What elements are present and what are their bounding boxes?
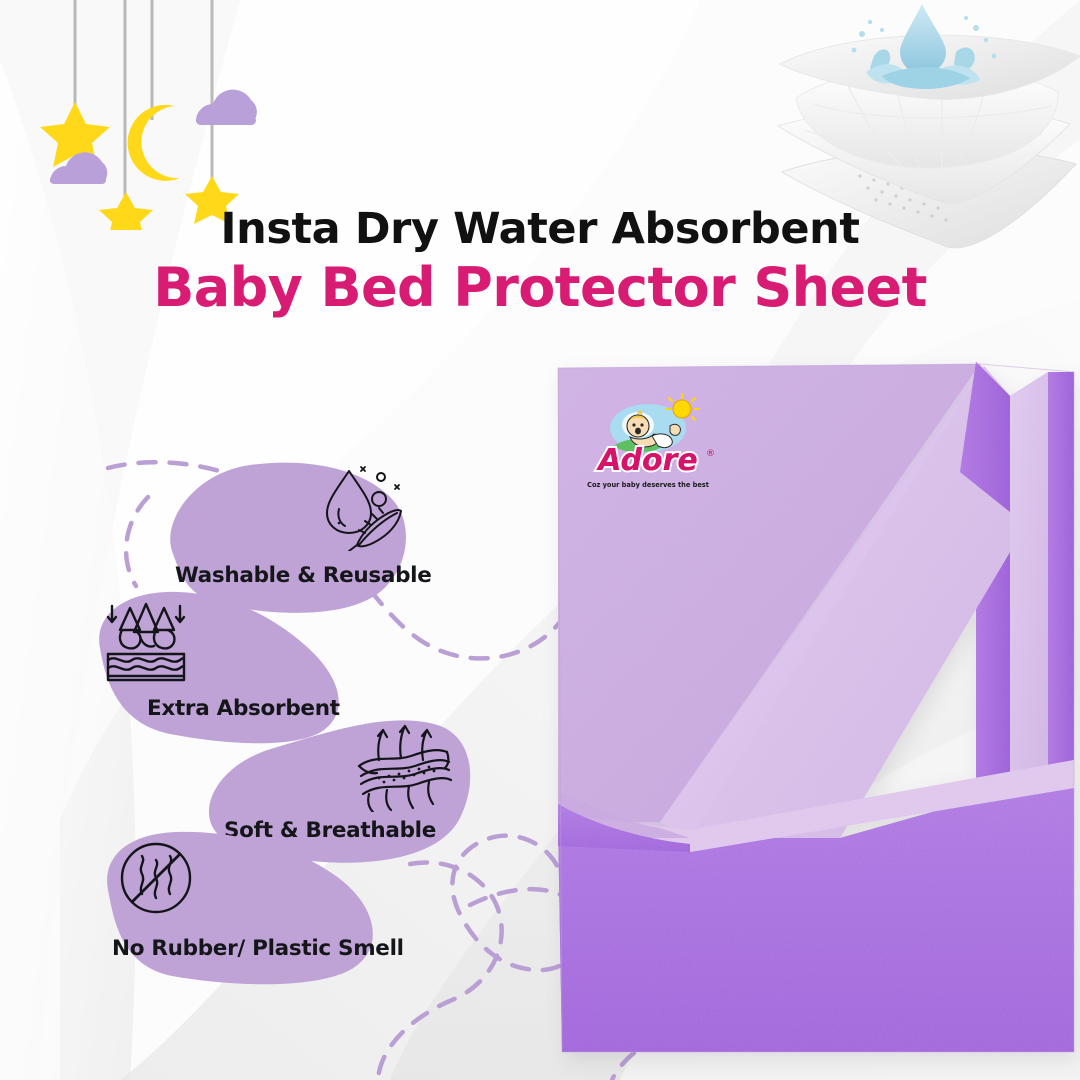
feature-badge-list: Washable & Reusable (0, 420, 540, 1020)
adore-brand-logo: Adore Adore ® Coz your baby deserves the… (578, 392, 724, 496)
headline-line-2: Baby Bed Protector Sheet (0, 261, 1080, 315)
no-odor-icon (116, 838, 196, 923)
logo-wordmark-fill: Adore (596, 443, 698, 478)
headline-line-1: Insta Dry Water Absorbent (0, 208, 1080, 251)
feature-label: Washable & Reusable (175, 563, 432, 588)
advertisement-canvas: Insta Dry Water Absorbent Baby Bed Prote… (0, 0, 1080, 1080)
absorbing-droplets-icon (104, 602, 188, 689)
registered-trademark-icon: ® (706, 449, 715, 459)
feature-label: No Rubber/ Plastic Smell (112, 936, 404, 961)
hanging-mobile-decoration (0, 0, 300, 230)
cloud-icon (196, 90, 257, 125)
headline-block: Insta Dry Water Absorbent Baby Bed Prote… (0, 208, 1080, 315)
crescent-moon-icon (128, 105, 180, 181)
feature-badge-no-smell: No Rubber/ Plastic Smell (98, 828, 388, 993)
water-drop-feather-icon (315, 463, 405, 556)
logo-tagline: Coz your baby deserves the best (587, 481, 709, 489)
breathable-fabric-arrows-icon (353, 720, 453, 817)
logo-wordmark: Adore Adore ® (596, 443, 715, 478)
